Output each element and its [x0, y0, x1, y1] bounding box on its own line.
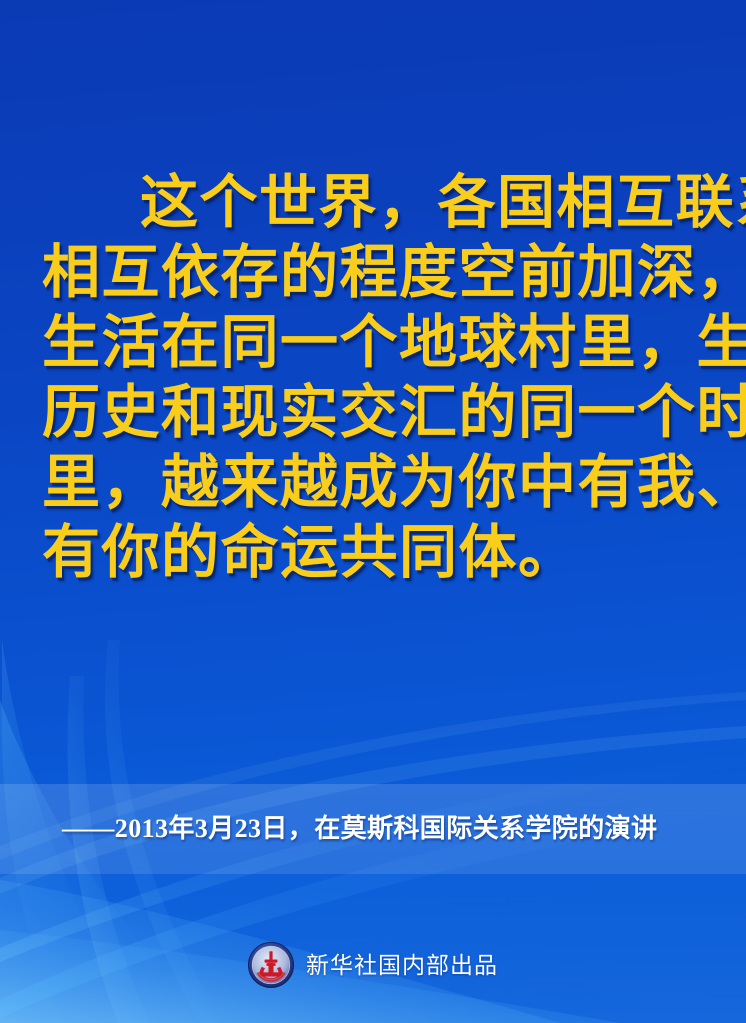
quote-line-1: 这个世界，各国相互联系、 — [42, 168, 708, 238]
footer-label: 新华社国内部出品 — [306, 950, 498, 980]
quote-poster: 这个世界，各国相互联系、 相互依存的程度空前加深，人类 生活在同一个地球村里，生… — [0, 0, 746, 1023]
footer: 新华社国内部出品 — [0, 942, 746, 988]
quote-text-block: 这个世界，各国相互联系、 相互依存的程度空前加深，人类 生活在同一个地球村里，生… — [42, 168, 708, 588]
quote-line-4: 历史和现实交汇的同一个时空 — [42, 378, 708, 448]
xinhua-logo-icon — [248, 942, 294, 988]
quote-line-3: 生活在同一个地球村里，生活在 — [42, 308, 708, 378]
quote-line-2: 相互依存的程度空前加深，人类 — [42, 238, 708, 308]
attribution-text: ——2013年3月23日，在莫斯科国际关系学院的演讲 — [62, 812, 657, 846]
quote-line-6: 有你的命运共同体。 — [42, 518, 708, 588]
quote-line-5: 里，越来越成为你中有我、我中 — [42, 448, 708, 518]
